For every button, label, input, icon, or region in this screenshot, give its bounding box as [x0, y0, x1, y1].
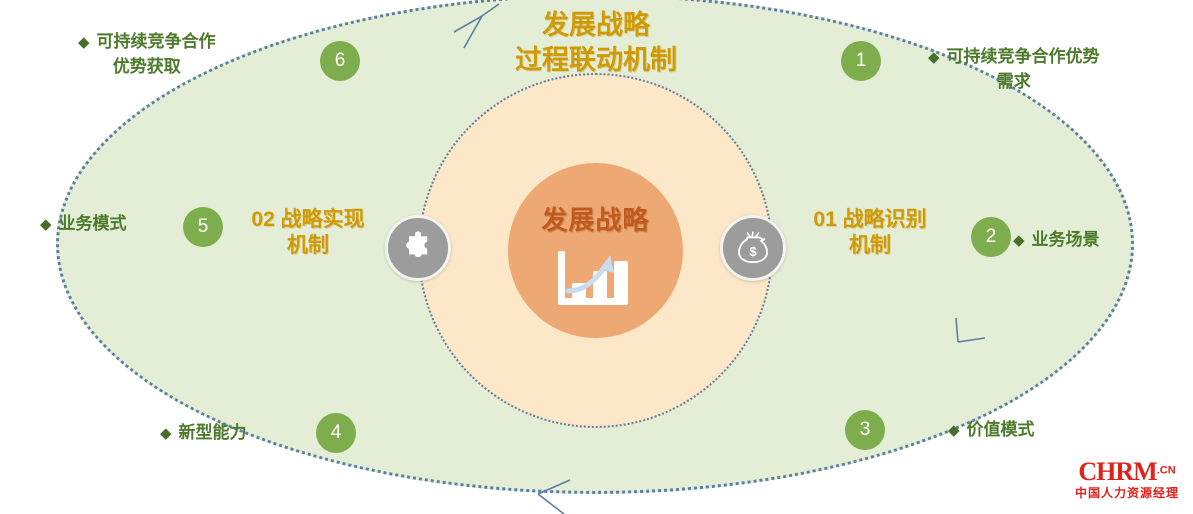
diamond-bullet-icon: ◆ — [160, 425, 172, 442]
mechanism-02-label-line2: 机制 — [287, 234, 329, 257]
diamond-bullet-icon: ◆ — [928, 49, 940, 66]
node-label-6-line2: 优势获取 — [78, 55, 216, 80]
node-badge-5[interactable]: 5 — [183, 207, 223, 247]
money-bag-icon: $ — [734, 229, 772, 267]
diagram-canvas: 发展战略 $ 02 战略实现 机制 01 战略识别 机制 — [0, 0, 1193, 514]
mechanism-01-label-line2: 机制 — [849, 234, 891, 257]
core-strategy-title: 发展战略 — [508, 200, 683, 237]
diamond-bullet-icon: ◆ — [78, 34, 90, 51]
puzzle-piece-icon — [400, 230, 436, 266]
diamond-bullet-icon: ◆ — [948, 422, 960, 439]
node-badge-6[interactable]: 6 — [320, 41, 360, 81]
node-badge-3[interactable]: 3 — [845, 410, 885, 450]
mechanism-02-icon-circle[interactable] — [385, 215, 451, 281]
site-logo: CHRM.CN 中国人力资源经理 — [1068, 459, 1186, 499]
process-title-line1: 发展战略 — [542, 10, 650, 40]
logo-subtitle: 中国人力资源经理 — [1068, 487, 1186, 499]
diamond-bullet-icon: ◆ — [1013, 232, 1025, 249]
node-badge-2[interactable]: 2 — [971, 217, 1011, 257]
process-title: 发展战略 过程联动机制 — [476, 8, 716, 78]
logo-tld: .CN — [1157, 465, 1176, 477]
node-label-3: ◆价值模式 — [948, 418, 1035, 443]
mechanism-02-heading: 02 战略实现 机制 — [228, 207, 388, 260]
node-label-6: ◆可持续竞争合作 优势获取 — [78, 30, 216, 79]
orbit-arrow-bottom — [526, 478, 596, 514]
mechanism-01-heading: 01 战略识别 机制 — [790, 207, 950, 260]
node-label-1-line1: 可持续竞争合作优势 — [947, 47, 1100, 66]
node-label-1: ◆可持续竞争合作优势 需求 — [928, 45, 1100, 94]
node-label-1-line2: 需求 — [928, 70, 1100, 95]
process-title-line2: 过程联动机制 — [515, 45, 677, 75]
mechanism-01-label-line1: 01 战略识别 — [813, 208, 926, 231]
node-label-4-line1: 新型能力 — [179, 423, 247, 442]
mechanism-01-icon-circle[interactable]: $ — [720, 215, 786, 281]
node-label-5: ◆业务模式 — [40, 212, 127, 237]
node-label-2: ◆业务场景 — [1013, 228, 1100, 253]
node-label-3-line1: 价值模式 — [967, 420, 1035, 439]
orbit-arrow-right — [930, 316, 990, 366]
node-label-5-line1: 业务模式 — [59, 214, 127, 233]
node-badge-4[interactable]: 4 — [316, 413, 356, 453]
mechanism-02-label-line1: 02 战略实现 — [251, 208, 364, 231]
svg-text:$: $ — [749, 244, 757, 259]
bar-chart-growth-icon — [548, 245, 644, 315]
node-label-2-line1: 业务场景 — [1032, 230, 1100, 249]
node-label-4: ◆新型能力 — [160, 421, 247, 446]
logo-wordmark: CHRM — [1078, 457, 1156, 486]
node-badge-1[interactable]: 1 — [841, 41, 881, 81]
node-label-6-line1: 可持续竞争合作 — [97, 32, 216, 51]
diamond-bullet-icon: ◆ — [40, 216, 52, 233]
